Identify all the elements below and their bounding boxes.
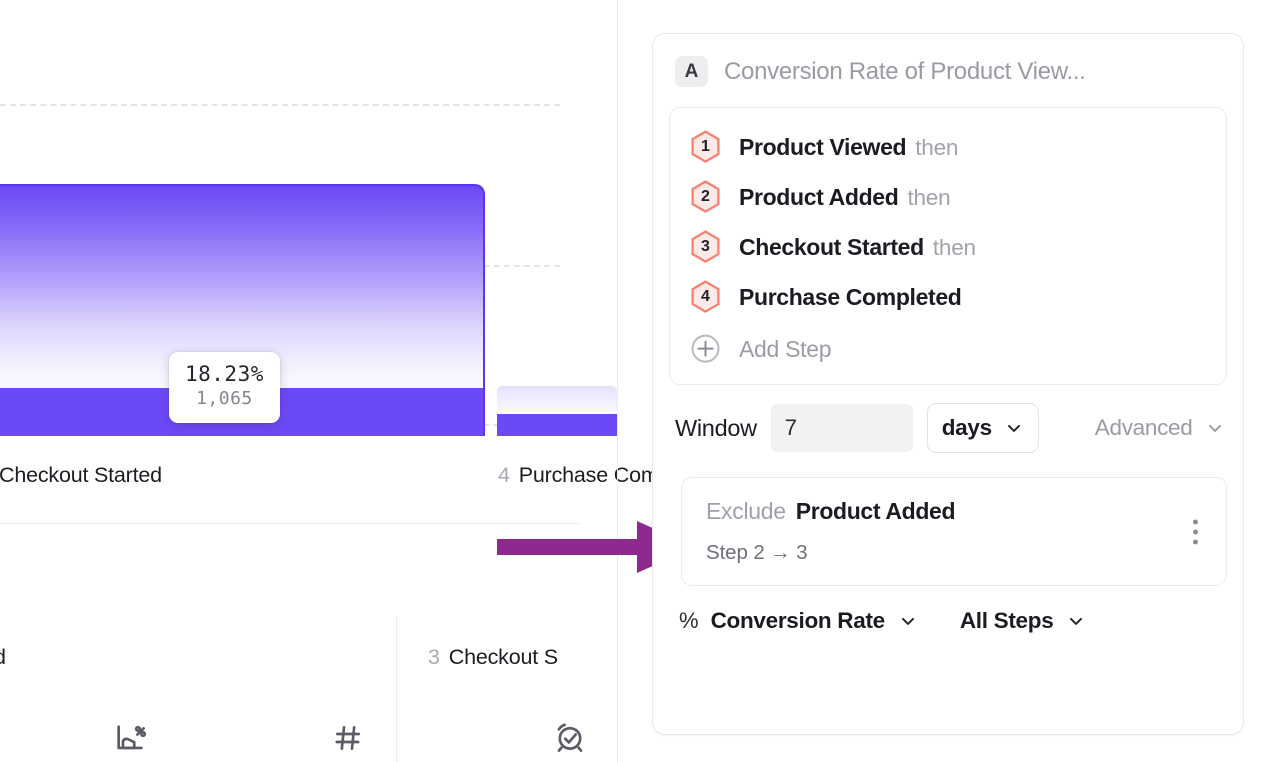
step-number: 3 xyxy=(701,238,710,256)
add-step-label: Add Step xyxy=(739,336,831,363)
advanced-label: Advanced xyxy=(1095,415,1193,441)
axis-label-text: Checkout Started xyxy=(0,463,162,487)
steps-card: 1 Product Viewedthen 2 Product Addedthen xyxy=(669,107,1227,385)
window-value-input[interactable] xyxy=(771,404,913,452)
step-then: then xyxy=(915,135,958,160)
tooltip-percent: 18.23% xyxy=(185,361,264,387)
metric-cell-right-index: 3 xyxy=(428,645,440,669)
gridline xyxy=(0,104,560,106)
exclude-step-range: Step 2 → 3 xyxy=(706,541,1204,565)
chevron-down-icon xyxy=(1004,418,1024,438)
series-letter-badge[interactable]: A xyxy=(675,56,708,87)
step-label-wrap: Checkout Startedthen xyxy=(739,234,976,261)
step-number: 2 xyxy=(701,188,710,206)
step-number: 1 xyxy=(701,138,710,156)
step-name: Checkout Started xyxy=(739,234,924,260)
step-row[interactable]: 1 Product Viewedthen xyxy=(670,122,1226,172)
metric-cell-left-label: d xyxy=(0,645,6,669)
plus-circle-icon xyxy=(690,332,721,366)
window-unit-label: days xyxy=(942,415,992,441)
hash-icon[interactable] xyxy=(326,718,370,758)
window-unit-select[interactable]: days xyxy=(927,403,1039,453)
metric-select-label: Conversion Rate xyxy=(711,608,885,634)
chart-section-divider xyxy=(0,523,580,524)
metric-column-divider xyxy=(396,616,397,762)
step-row[interactable]: 4 Purchase Completed xyxy=(670,272,1226,322)
step-number-badge: 2 xyxy=(690,180,721,214)
step-name: Product Added xyxy=(739,184,898,210)
funnel-bar-gradient xyxy=(497,386,617,414)
kebab-menu-icon[interactable] xyxy=(1187,515,1204,548)
axis-label-checkout-started: Checkout Started xyxy=(0,463,162,488)
exclude-rule-header: Exclude Product Added xyxy=(706,498,1204,525)
metric-select[interactable]: Conversion Rate xyxy=(711,608,918,634)
step-label-wrap: Product Addedthen xyxy=(739,184,950,211)
chevron-down-icon xyxy=(1205,418,1225,438)
funnel-percent-icon[interactable] xyxy=(108,718,152,758)
step-number-badge: 1 xyxy=(690,130,721,164)
panel-title[interactable]: Conversion Rate of Product View... xyxy=(724,58,1086,86)
metric-cell-right-label: Checkout S xyxy=(449,645,558,669)
window-label: Window xyxy=(675,415,757,442)
step-name: Product Viewed xyxy=(739,134,906,160)
metric-cell-left[interactable]: d xyxy=(0,645,6,670)
chart-tooltip: 18.23% 1,065 xyxy=(169,352,280,423)
step-row[interactable]: 3 Checkout Startedthen xyxy=(670,222,1226,272)
step-name: Purchase Completed xyxy=(739,284,962,310)
funnel-bar-purchase-completed[interactable] xyxy=(497,386,617,436)
exclude-rule-card[interactable]: Exclude Product Added Step 2 → 3 xyxy=(681,477,1227,586)
add-step-button[interactable]: Add Step xyxy=(670,322,1226,378)
pane-divider xyxy=(617,0,618,762)
panel-footer: % Conversion Rate All Steps xyxy=(653,586,1243,634)
chevron-down-icon xyxy=(1066,611,1086,631)
funnel-bar-base xyxy=(497,414,617,436)
query-builder-panel: A Conversion Rate of Product View... 1 P… xyxy=(652,33,1244,735)
app-root: 18.23% 1,065 Checkout Started 4Purchase … xyxy=(0,0,1264,762)
step-label-wrap: Purchase Completed xyxy=(739,284,971,311)
axis-label-index: 4 xyxy=(498,463,510,487)
funnel-chart-pane: 18.23% 1,065 Checkout Started 4Purchase … xyxy=(0,0,617,762)
step-number-badge: 3 xyxy=(690,230,721,264)
chevron-down-icon xyxy=(898,611,918,631)
kebab-dot xyxy=(1193,519,1198,524)
exclude-target-event: Product Added xyxy=(796,498,955,525)
step-number: 4 xyxy=(701,288,710,306)
panel-header: A Conversion Rate of Product View... xyxy=(653,34,1243,107)
step-label-wrap: Product Viewedthen xyxy=(739,134,958,161)
metric-cell-right[interactable]: 3Checkout S xyxy=(428,645,558,670)
step-then: then xyxy=(933,235,976,260)
kebab-dot xyxy=(1193,529,1198,534)
clock-check-icon[interactable] xyxy=(548,716,592,758)
scope-select[interactable]: All Steps xyxy=(960,608,1087,634)
scope-select-label: All Steps xyxy=(960,608,1054,634)
exclude-keyword: Exclude xyxy=(706,498,786,525)
kebab-dot xyxy=(1193,539,1198,544)
tooltip-count: 1,065 xyxy=(185,387,264,411)
window-row: Window days Advanced xyxy=(653,385,1243,467)
step-row[interactable]: 2 Product Addedthen xyxy=(670,172,1226,222)
advanced-toggle[interactable]: Advanced xyxy=(1095,415,1226,441)
percent-symbol-icon: % xyxy=(679,608,699,634)
step-number-badge: 4 xyxy=(690,280,721,314)
step-then: then xyxy=(907,185,950,210)
